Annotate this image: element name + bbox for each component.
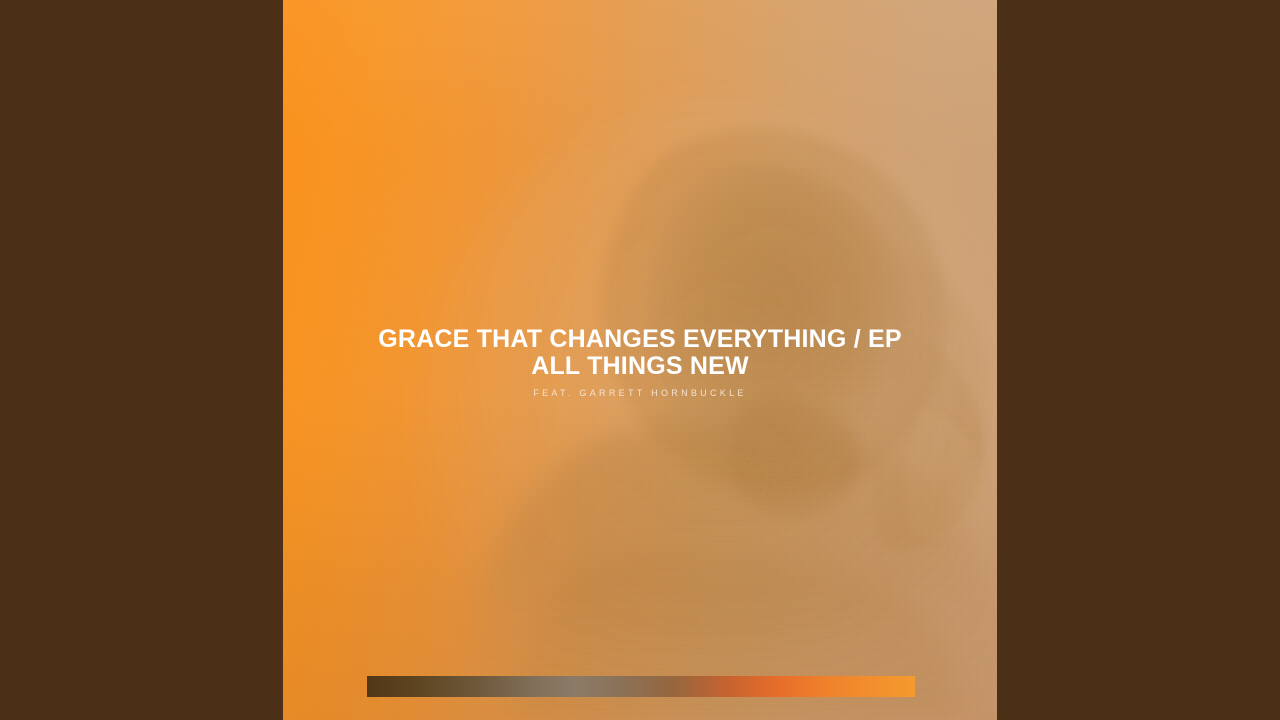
letterbox-right [997, 0, 1280, 720]
figure-hood-outer [602, 129, 946, 494]
figure-svg [283, 0, 997, 720]
title-block: GRACE THAT CHANGES EVERYTHING / EP ALL T… [283, 326, 997, 399]
featured-artist-credit: FEAT. GARRETT HORNBUCKLE [283, 388, 997, 399]
paper-grain-texture [283, 0, 997, 720]
figure-hood-inner [645, 163, 911, 470]
figure-halo [413, 100, 997, 720]
hooded-figure-silhouette [283, 0, 997, 720]
figure-hand [905, 408, 979, 539]
fabric-weave-texture [283, 0, 997, 720]
figure-face-shadow [729, 398, 860, 516]
bottom-gradient-bar [367, 676, 915, 697]
album-title-line-2: ALL THINGS NEW [283, 353, 997, 380]
album-title-line-1: GRACE THAT CHANGES EVERYTHING / EP [283, 326, 997, 353]
artwork-vertical-shade [283, 0, 997, 720]
figure-arm [869, 330, 983, 549]
figure-torso [463, 416, 997, 720]
album-artwork: GRACE THAT CHANGES EVERYTHING / EP ALL T… [283, 0, 997, 720]
letterbox-left [0, 0, 283, 720]
figure-hood-drape [883, 250, 990, 534]
video-stage: GRACE THAT CHANGES EVERYTHING / EP ALL T… [0, 0, 1280, 720]
